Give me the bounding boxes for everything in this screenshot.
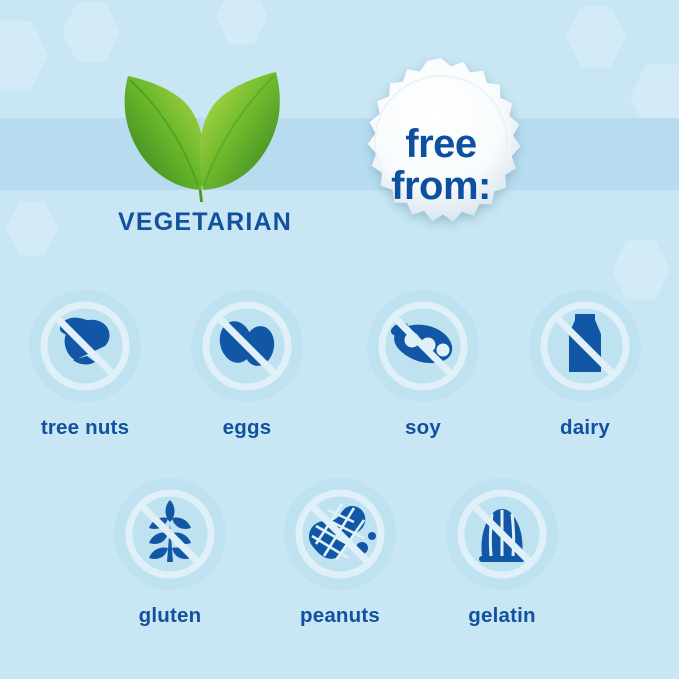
acorn-nut-icon [29,290,141,402]
allergen-label: gelatin [427,604,577,628]
wheat-icon [114,478,226,590]
allergen-item-dairy: dairy [510,290,660,440]
peanut-icon [284,478,396,590]
hexagon-decoration [62,0,120,64]
allergen-circle [446,478,558,590]
free-from-badge: free from: [330,50,552,272]
vegetarian-label: VEGETARIAN [90,208,320,237]
allergen-circle [114,478,226,590]
badge-line-2: from: [330,166,552,208]
allergen-circle [29,290,141,402]
allergen-label: eggs [172,416,322,440]
allergen-item-tree-nuts: tree nuts [10,290,160,440]
badge-line-1: free [330,124,552,166]
eggs-icon [191,290,303,402]
hexagon-decoration [566,4,626,70]
allergen-circle [529,290,641,402]
product-badge-graphic: VEGETARIAN free from: [0,0,679,679]
allergen-label: tree nuts [10,416,160,440]
allergen-label: soy [348,416,498,440]
allergen-circle [284,478,396,590]
allergen-label: peanuts [265,604,415,628]
allergen-item-gelatin: gelatin [427,478,577,628]
allergen-item-gluten: gluten [95,478,245,628]
allergen-label: gluten [95,604,245,628]
allergen-circle [191,290,303,402]
badge-text: free from: [330,124,552,207]
hexagon-decoration [6,200,58,258]
hexagon-decoration [216,0,268,46]
allergen-item-eggs: eggs [172,290,322,440]
soy-pod-icon [367,290,479,402]
allergen-item-peanuts: peanuts [265,478,415,628]
allergen-circle [367,290,479,402]
hexagon-decoration [0,18,48,92]
allergen-item-soy: soy [348,290,498,440]
milk-carton-icon [529,290,641,402]
allergen-label: dairy [510,416,660,440]
leaf-icon [108,62,298,207]
gelatin-mold-icon [446,478,558,590]
